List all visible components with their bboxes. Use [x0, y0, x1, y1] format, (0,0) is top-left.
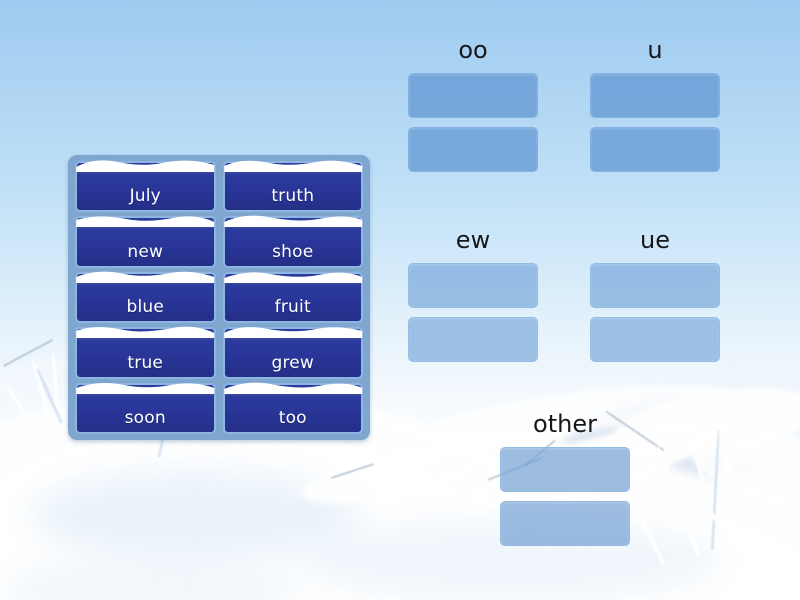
- word-tile[interactable]: new: [75, 216, 216, 267]
- word-tile[interactable]: fruit: [223, 272, 364, 323]
- category-title: oo: [408, 38, 538, 62]
- word-tile-label: truth: [271, 188, 314, 205]
- word-tile-label: new: [127, 244, 163, 261]
- drop-slot[interactable]: [590, 317, 720, 362]
- word-tile[interactable]: shoe: [223, 216, 364, 267]
- category-title: other: [500, 412, 630, 436]
- drop-slot[interactable]: [408, 127, 538, 172]
- word-bank-panel: July truth new shoe: [68, 155, 370, 440]
- word-tile[interactable]: true: [75, 327, 216, 378]
- drop-slot[interactable]: [590, 73, 720, 118]
- category-title: ue: [590, 228, 720, 252]
- word-tile[interactable]: blue: [75, 272, 216, 323]
- category-oo: oo: [408, 38, 538, 172]
- word-tile-label: true: [127, 355, 163, 372]
- word-tile-label: blue: [126, 299, 164, 316]
- word-tile-label: grew: [271, 355, 314, 372]
- word-tile-label: shoe: [272, 244, 313, 261]
- drop-slot[interactable]: [590, 263, 720, 308]
- drop-slot[interactable]: [500, 501, 630, 546]
- category-slots: [500, 447, 630, 546]
- snow-cap-icon: [74, 379, 217, 394]
- word-tile-label: July: [130, 188, 161, 205]
- drop-slot[interactable]: [500, 447, 630, 492]
- drop-slot[interactable]: [590, 127, 720, 172]
- word-tile[interactable]: truth: [223, 161, 364, 212]
- drop-slot[interactable]: [408, 263, 538, 308]
- snow-cap-icon: [74, 323, 217, 338]
- snow-cap-icon: [222, 157, 365, 172]
- word-tile-label: soon: [125, 410, 166, 427]
- snow-cap-icon: [222, 323, 365, 338]
- snow-cap-icon: [222, 212, 365, 227]
- activity-stage: July truth new shoe: [0, 0, 800, 600]
- snow-cap-icon: [74, 268, 217, 283]
- category-ue: ue: [590, 228, 720, 362]
- word-tile[interactable]: July: [75, 161, 216, 212]
- snow-cap-icon: [222, 268, 365, 283]
- category-slots: [408, 263, 538, 362]
- category-title: u: [590, 38, 720, 62]
- category-slots: [408, 73, 538, 172]
- drop-slot[interactable]: [408, 73, 538, 118]
- category-other: other: [500, 412, 630, 546]
- word-tile-label: fruit: [275, 299, 311, 316]
- category-ew: ew: [408, 228, 538, 362]
- category-slots: [590, 263, 720, 362]
- drop-slot[interactable]: [408, 317, 538, 362]
- snow-cap-icon: [222, 379, 365, 394]
- word-tile[interactable]: grew: [223, 327, 364, 378]
- category-slots: [590, 73, 720, 172]
- word-tile-label: too: [279, 410, 307, 427]
- word-tile[interactable]: too: [223, 383, 364, 434]
- word-tile[interactable]: soon: [75, 383, 216, 434]
- snow-cap-icon: [74, 157, 217, 172]
- snow-cap-icon: [74, 212, 217, 227]
- category-u: u: [590, 38, 720, 172]
- category-title: ew: [408, 228, 538, 252]
